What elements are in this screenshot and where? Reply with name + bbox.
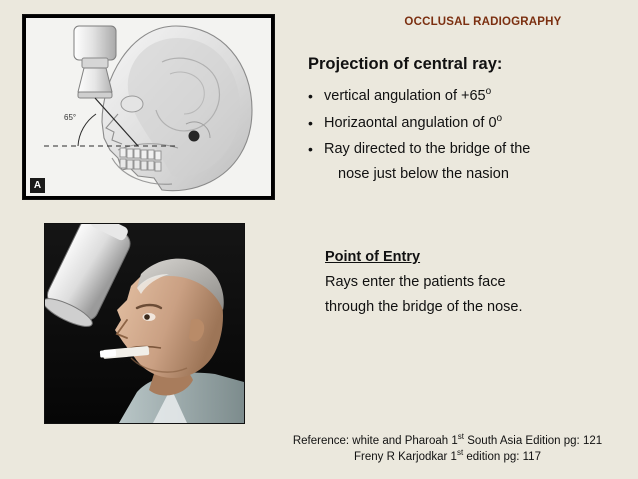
photo-canvas xyxy=(45,224,244,423)
list-item-text: Ray directed to the bridge of thenose ju… xyxy=(324,141,626,183)
illustration-panel: 65° A xyxy=(22,14,275,200)
photo-panel xyxy=(44,223,245,424)
reference-line-1: Reference: white and Pharoah 1st South A… xyxy=(265,433,630,449)
illustration-canvas: 65° A xyxy=(26,18,271,196)
list-item-text: vertical angulation of +65o xyxy=(324,88,626,106)
angle-label: 65° xyxy=(64,113,76,122)
degree-symbol: o xyxy=(486,86,492,97)
slide-root: OCCLUSAL RADIOGRAPHY xyxy=(0,0,638,479)
list-item: • Horizaontal angulation of 0o xyxy=(308,115,626,133)
list-item-continuation: nose just below the nasion xyxy=(338,166,626,184)
section-heading: Projection of central ray: xyxy=(308,55,502,74)
degree-symbol: o xyxy=(497,113,503,124)
list-item: • Ray directed to the bridge of thenose … xyxy=(308,141,626,183)
list-item-label: Horizaontal angulation of 0 xyxy=(324,115,497,131)
patient-photo-icon xyxy=(45,224,244,423)
bullet-icon: • xyxy=(308,115,324,132)
page-title: OCCLUSAL RADIOGRAPHY xyxy=(338,16,628,28)
bullet-icon: • xyxy=(308,88,324,105)
list-item: • vertical angulation of +65o xyxy=(308,88,626,106)
list-item-text: Horizaontal angulation of 0o xyxy=(324,115,626,133)
panel-label-a: A xyxy=(30,178,45,193)
reference-text: edition pg: 117 xyxy=(463,451,541,463)
point-of-entry-line: Rays enter the patients face xyxy=(325,274,625,290)
bullet-icon: • xyxy=(308,141,324,158)
reference-line-2: Freny R Karjodkar 1st edition pg: 117 xyxy=(265,449,630,465)
point-of-entry-line: through the bridge of the nose. xyxy=(325,299,625,315)
list-item-label: Ray directed to the bridge of the xyxy=(324,141,530,157)
list-item-label: vertical angulation of +65 xyxy=(324,88,486,104)
point-of-entry-block: Point of Entry Rays enter the patients f… xyxy=(325,249,625,324)
bullet-list: • vertical angulation of +65o • Horizaon… xyxy=(308,88,626,193)
reference-text: Reference: white and Pharoah 1 xyxy=(293,435,458,447)
reference-block: Reference: white and Pharoah 1st South A… xyxy=(265,433,630,466)
reference-text: South Asia Edition pg: 121 xyxy=(464,435,602,447)
reference-text: Freny R Karjodkar 1 xyxy=(354,451,457,463)
lateral-head-diagram-icon xyxy=(26,18,271,196)
point-of-entry-title: Point of Entry xyxy=(325,249,625,265)
